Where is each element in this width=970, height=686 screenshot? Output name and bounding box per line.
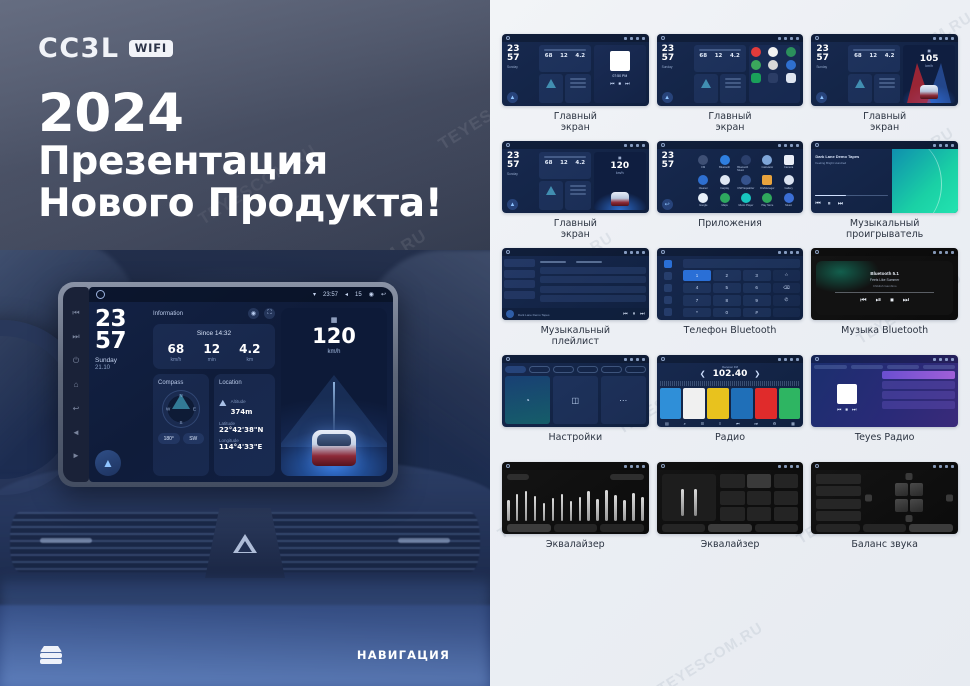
trip-stat-value: 4.2 — [575, 53, 585, 59]
screenshot-radio[interactable]: Receiver FM ❮ 102.40 ❯ — [657, 355, 804, 427]
navigation-icon[interactable]: ▲ — [95, 450, 121, 476]
dial-key[interactable]: # — [743, 308, 771, 318]
clock-minutes: 57 — [507, 161, 536, 170]
screenshot-home-apps[interactable]: 23 57 Sunday ▲ 68124.2 — [657, 34, 804, 106]
hero-footer: НАВИГАЦИЯ — [0, 624, 490, 686]
tab[interactable] — [863, 524, 907, 532]
app-icon[interactable] — [786, 60, 796, 70]
trip-info-card: Since 14:32 68 km/h 12 min — [153, 324, 275, 369]
trip-stat-value: 12 — [869, 53, 877, 59]
app-icon[interactable] — [720, 155, 730, 165]
app-item[interactable]: DSP Equalizer — [737, 175, 754, 190]
thumb-status-bar — [811, 248, 958, 256]
back-icon[interactable]: ↩ — [662, 199, 673, 210]
app-icon[interactable] — [762, 155, 772, 165]
phone-sidebar[interactable] — [657, 256, 680, 320]
gallery-item[interactable]: Dark Lane Demo Tapes ⏮⏸⏭ Музыкальный пле… — [502, 248, 649, 348]
station-list[interactable] — [882, 371, 955, 425]
track-title: Dark Lane Demo Tapes — [518, 313, 549, 317]
app-icon[interactable] — [784, 175, 794, 185]
nav-tab[interactable] — [814, 365, 846, 369]
more-icon[interactable] — [773, 308, 801, 318]
preset-selector[interactable] — [507, 474, 529, 480]
app-item[interactable]: Bluetooth Music — [737, 155, 754, 173]
preset-button[interactable] — [720, 491, 744, 505]
media-controls[interactable]: ⏮⏯⏹⏭ — [860, 297, 909, 305]
band-slider[interactable] — [507, 500, 510, 521]
app-icon[interactable] — [751, 60, 761, 70]
app-shortcuts-panel[interactable] — [749, 45, 801, 103]
frequency-scale[interactable] — [660, 381, 801, 386]
stop-icon[interactable]: ⏹ — [890, 297, 894, 305]
media-controls[interactable]: ⏮⏸⏭ — [623, 311, 645, 317]
seek-down-icon[interactable]: ❮ — [700, 370, 706, 378]
next-icon[interactable]: ⏭ — [640, 311, 645, 317]
trip-stat-value: 4.2 — [885, 53, 895, 59]
dial-pad[interactable]: 1 2 3 ☆ 4 5 6 ⌫ 7 8 9 ✆ — [683, 270, 800, 317]
gallery-item[interactable]: Эквалайзер — [502, 462, 649, 562]
balance-up-button[interactable] — [906, 473, 913, 480]
navigation-icon[interactable]: ▲ — [507, 92, 518, 103]
band-slider[interactable] — [516, 494, 519, 521]
gallery-caption: Музыка Bluetooth — [841, 326, 928, 348]
sidebar-item[interactable] — [504, 259, 535, 267]
dial-key[interactable]: 8 — [713, 295, 741, 306]
track-artist: Feeling Bright Hundred — [815, 161, 888, 165]
next-icon[interactable]: ⏭ — [903, 297, 909, 305]
gallery-item[interactable]: Bluetooth 5.1 Feels Like Summer Childish… — [811, 248, 958, 348]
compass-card — [848, 74, 872, 103]
volume-down-button[interactable]: ◄ — [72, 428, 81, 437]
dial-key[interactable]: 4 — [683, 283, 711, 294]
list-item[interactable] — [540, 295, 645, 302]
now-playing-bar[interactable]: Dark Lane Demo Tapes ⏮⏸⏭ — [502, 308, 649, 320]
dialpad-icon[interactable] — [664, 260, 672, 268]
list-item[interactable] — [882, 401, 955, 409]
app-label: FM — [701, 166, 705, 169]
seat-rear-left[interactable] — [895, 499, 908, 512]
preset-station[interactable] — [683, 388, 705, 419]
band-slider[interactable] — [534, 496, 537, 521]
equalizer-tabs[interactable] — [507, 524, 644, 532]
seat-front-right[interactable] — [910, 483, 923, 496]
preset-buttons[interactable] — [720, 474, 798, 521]
settings-icon[interactable] — [664, 308, 672, 316]
app-icon[interactable] — [784, 193, 794, 203]
treble-slider[interactable] — [694, 489, 697, 516]
screenshot-music-playlist[interactable]: Dark Lane Demo Tapes ⏮⏸⏭ — [502, 248, 649, 320]
app-icon[interactable] — [751, 73, 761, 83]
band-slider[interactable] — [587, 491, 590, 521]
preset-button[interactable] — [747, 491, 771, 505]
settings-tab[interactable] — [601, 366, 622, 373]
band-slider[interactable] — [614, 495, 617, 521]
preset-station[interactable] — [755, 388, 777, 419]
station-presets[interactable] — [660, 388, 801, 419]
gear-icon[interactable]: ◉ — [369, 291, 374, 298]
hazard-triangle-icon[interactable] — [231, 531, 259, 554]
prev-icon[interactable]: ⏮ — [837, 407, 842, 413]
expand-icon[interactable]: ⛶ — [264, 308, 275, 319]
equalizer-tabs[interactable] — [816, 524, 953, 532]
sidebar-item[interactable] — [504, 270, 535, 278]
tab[interactable] — [554, 524, 598, 532]
app-item[interactable]: Google — [695, 193, 712, 208]
grid-icon[interactable]: ▦ — [791, 421, 795, 426]
list-item[interactable] — [540, 267, 645, 274]
navigation-icon[interactable]: ▲ — [662, 92, 673, 103]
equalizer-header[interactable] — [507, 474, 644, 480]
app-item[interactable]: Play Store — [759, 193, 776, 208]
preset-button[interactable] — [774, 491, 798, 505]
dial-key[interactable]: 6 — [743, 283, 771, 294]
trip-stat-value: 68 — [699, 53, 707, 59]
favorites-icon[interactable]: ☆ — [773, 270, 801, 281]
gallery-item[interactable]: ⏮⏹⏭ Teyes Радио — [811, 355, 958, 455]
app-icon[interactable] — [698, 193, 708, 203]
app-icon[interactable] — [768, 73, 778, 83]
preset-station[interactable] — [779, 388, 801, 419]
screenshot-home-media[interactable]: 23 57 Sunday ▲ 68124.2 — [502, 34, 649, 106]
layers-icon — [40, 646, 62, 664]
search-icon[interactable]: ⌕ — [684, 421, 686, 426]
prev-icon[interactable]: ⏮ — [610, 81, 615, 87]
app-icon[interactable] — [786, 73, 796, 83]
refresh-icon[interactable]: ◉ — [248, 308, 259, 319]
screenshot-equalizer[interactable] — [502, 462, 649, 534]
screenshot-equalizer-presets[interactable] — [657, 462, 804, 534]
list-item[interactable] — [540, 286, 645, 293]
lane-warning-panel[interactable]: ▦ 105 km/h — [903, 45, 955, 103]
drive-view-panel[interactable]: ▦ 120 km/h — [281, 308, 387, 476]
app-icon[interactable] — [751, 47, 761, 57]
sidebar-item[interactable] — [504, 280, 535, 288]
app-item[interactable]: Bluetooth — [716, 155, 733, 173]
home-circle-icon — [661, 36, 665, 40]
compass-point-s: S — [179, 420, 182, 425]
list-icon[interactable]: ☰ — [701, 421, 705, 426]
screenshot-settings[interactable]: ◔ ◫ ⋯ — [502, 355, 649, 427]
media-controls[interactable]: ⏮⏸⏭ — [815, 201, 888, 208]
tab[interactable] — [909, 524, 953, 532]
app-icon[interactable] — [720, 175, 730, 185]
preset-button[interactable] — [774, 474, 798, 488]
thumb-status-bar — [502, 34, 649, 42]
vehicle-3d-model — [312, 430, 356, 466]
list-item[interactable] — [540, 276, 645, 283]
band-slider[interactable] — [623, 500, 626, 521]
preset-button[interactable] — [720, 474, 744, 488]
wifi-icon: ▾ — [313, 291, 316, 298]
gallery-caption: Эквалайзер — [701, 540, 760, 562]
navigation-label: НАВИГАЦИЯ — [357, 648, 450, 662]
app-item[interactable]: Cleaner — [695, 175, 712, 190]
bass-slider[interactable] — [681, 489, 684, 516]
app-icon[interactable] — [698, 155, 708, 165]
gallery-item[interactable]: Receiver FM ❮ 102.40 ❯ — [657, 355, 804, 455]
compass-direction: SW — [183, 433, 205, 444]
dial-key[interactable]: 9 — [743, 295, 771, 306]
radio-toolbar[interactable]: ▤⌕☰≡⏮⏭⚙▦ — [660, 419, 801, 427]
preset-station[interactable] — [731, 388, 753, 419]
home-button[interactable]: ⌂ — [72, 380, 81, 389]
dial-key[interactable]: 1 — [683, 270, 711, 281]
band-slider[interactable] — [596, 499, 599, 521]
dial-key[interactable]: 3 — [743, 270, 771, 281]
call-icon[interactable]: ✆ — [773, 295, 801, 306]
app-item[interactable]: FileManager — [759, 175, 776, 190]
band-slider[interactable] — [552, 498, 555, 521]
clock-minutes: 57 — [95, 330, 147, 352]
search-icon[interactable] — [664, 284, 672, 292]
volume-up-button[interactable]: ► — [72, 451, 81, 460]
screenshot-teyes-radio[interactable]: ⏮⏹⏭ — [811, 355, 958, 427]
seat-front-left[interactable] — [895, 483, 908, 496]
balance-presets[interactable] — [816, 474, 861, 521]
contacts-icon[interactable] — [664, 272, 672, 280]
screenshot-home-lane[interactable]: 23 57 Sunday ▲ 68124.2 — [811, 34, 958, 106]
album-art — [506, 310, 514, 318]
preset-button[interactable] — [747, 474, 771, 488]
app-label: Camera — [784, 166, 793, 169]
screenshot-sound-balance[interactable] — [811, 462, 958, 534]
app-item[interactable]: Carplay — [716, 175, 733, 190]
list-item[interactable] — [882, 371, 955, 379]
settings-icon[interactable]: ⚙ — [773, 421, 777, 426]
hero-panel: TEYESCOM.RU TEYESCOM.RU TEYESCOM.RU TEYE… — [0, 0, 490, 686]
app-icon[interactable] — [762, 175, 772, 185]
location-card — [565, 181, 591, 210]
app-item[interactable]: Gallery — [780, 175, 797, 190]
dial-key[interactable]: 2 — [713, 270, 741, 281]
balance-right-button[interactable] — [946, 494, 953, 501]
next-icon[interactable]: ⏭ — [838, 201, 843, 208]
clock-hours: 23 — [95, 308, 147, 330]
home-circle-icon — [661, 250, 665, 254]
gallery-item[interactable]: ◔ ◫ ⋯ Настройки — [502, 355, 649, 455]
preset-button[interactable] — [816, 486, 861, 496]
nav-tab[interactable] — [923, 365, 955, 369]
play-pause-icon[interactable]: ⏯ — [876, 297, 882, 305]
nav-tab[interactable] — [851, 365, 883, 369]
prev-icon[interactable]: ⏮ — [623, 311, 628, 317]
dial-key[interactable]: * — [683, 308, 711, 318]
watermark: TEYESCOM.RU — [435, 66, 490, 155]
settings-tab[interactable] — [505, 366, 526, 373]
bluetooth-version-label: Bluetooth 5.1 — [870, 271, 899, 276]
list-item[interactable] — [882, 381, 955, 389]
hotspot-card[interactable]: ◫ — [553, 376, 598, 424]
app-item[interactable]: Music Player — [737, 193, 754, 208]
band-icon[interactable]: ▤ — [665, 421, 669, 426]
app-icon[interactable] — [784, 155, 794, 165]
head-unit-hardware-buttons[interactable]: ⏮ ⏭ ⏻ ⌂ ↩ ◄ ► — [63, 287, 89, 482]
band-slider[interactable] — [543, 503, 546, 521]
navigation-icon[interactable]: ▲ — [507, 199, 518, 210]
nav-tab[interactable] — [887, 365, 919, 369]
trip-stat-value: 68 — [168, 342, 185, 356]
trip-stat-value: 12 — [560, 53, 568, 59]
speed-value: 120 — [594, 161, 646, 171]
compass-dial: N E S W — [162, 390, 200, 428]
gallery-caption: Главный экран — [554, 112, 597, 134]
pause-icon[interactable]: ⏸ — [633, 311, 636, 317]
app-item[interactable]: Camera — [780, 155, 797, 173]
balance-left-button[interactable] — [865, 494, 872, 501]
app-icon[interactable] — [762, 193, 772, 203]
equalizer-tabs[interactable] — [662, 524, 799, 532]
settings-tab[interactable] — [577, 366, 598, 373]
app-icon[interactable] — [741, 155, 751, 165]
back-icon[interactable]: ↩ — [381, 291, 386, 298]
settings-tab[interactable] — [529, 366, 550, 373]
preset-station[interactable] — [660, 388, 682, 419]
head-unit-screen[interactable]: ▾ 23:57 ◂ 15 ◉ ↩ 23 57 Sunday — [89, 287, 393, 482]
app-item[interactable]: Music — [780, 193, 797, 208]
preset-button[interactable] — [816, 474, 861, 484]
tab[interactable] — [600, 524, 644, 532]
preset-button[interactable] — [774, 507, 798, 521]
screenshot-bluetooth-music[interactable]: Bluetooth 5.1 Feels Like Summer Childish… — [811, 248, 958, 320]
app-icon[interactable] — [741, 193, 751, 203]
dial-key[interactable]: 5 — [713, 283, 741, 294]
gallery-item[interactable]: Эквалайзер — [657, 462, 804, 562]
preset-button[interactable] — [747, 507, 771, 521]
next-icon[interactable]: ⏭ — [754, 421, 758, 426]
screenshot-home-nav[interactable]: 23 57 Sunday ▲ 68124.2 — [502, 141, 649, 213]
wifi-card[interactable]: ◔ — [505, 376, 550, 424]
progress-bar[interactable] — [815, 195, 888, 197]
sidebar-item[interactable] — [504, 291, 535, 299]
gallery-item[interactable]: 1 2 3 ☆ 4 5 6 ⌫ 7 8 9 ✆ — [657, 248, 804, 348]
gallery-caption: Музыкальный проигрыватель — [846, 219, 923, 241]
prev-icon[interactable]: ⏮ — [815, 201, 820, 208]
tab[interactable] — [816, 524, 860, 532]
balance-down-button[interactable] — [906, 515, 913, 522]
seek-up-icon[interactable]: ❯ — [754, 370, 760, 378]
band-slider[interactable] — [570, 501, 573, 521]
progress-bar[interactable] — [835, 292, 933, 293]
back-button[interactable]: ↩ — [72, 404, 81, 413]
thumb-status-bar — [657, 34, 804, 42]
app-icon[interactable] — [741, 175, 751, 185]
band-slider[interactable] — [579, 497, 582, 521]
app-icon[interactable] — [768, 60, 778, 70]
gallery-caption: Главный экран — [708, 112, 751, 134]
prev-icon[interactable]: ⏮ — [860, 297, 866, 305]
settings-tabs[interactable] — [505, 366, 646, 373]
phone-number-input[interactable] — [683, 259, 800, 268]
screenshot-bluetooth-phone[interactable]: 1 2 3 ☆ 4 5 6 ⌫ 7 8 9 ✆ — [657, 248, 804, 320]
list-item[interactable] — [882, 391, 955, 399]
album-art — [837, 384, 857, 404]
home-circle-icon — [815, 464, 819, 468]
dial-key[interactable]: 7 — [683, 295, 711, 306]
gallery-item[interactable]: 23 57 Sunday ▲ 68124.2 — [811, 34, 958, 134]
dial-key[interactable]: 0 — [713, 308, 741, 318]
bass-treble-sliders[interactable] — [662, 474, 717, 521]
gallery-item[interactable]: 23 57 Sunday ▲ 68124.2 — [502, 141, 649, 241]
thumb-status-bar — [657, 462, 804, 470]
band-slider[interactable] — [605, 490, 608, 521]
teyes-nav-tabs[interactable] — [814, 365, 955, 369]
eq-icon[interactable]: ≡ — [719, 421, 721, 426]
seat-rear-right[interactable] — [910, 499, 923, 512]
gallery-item[interactable]: 23 57 Sunday ▲ 68124.2 — [502, 34, 649, 134]
gallery-item[interactable]: Баланс звука — [811, 462, 958, 562]
app-icon[interactable] — [768, 47, 778, 57]
next-track-button[interactable]: ⏭ — [72, 332, 81, 341]
drive-view-panel[interactable]: ▦ 120 km/h — [594, 152, 646, 210]
preset-button[interactable] — [816, 499, 861, 509]
settings-tab[interactable] — [553, 366, 574, 373]
pause-icon[interactable]: ⏸ — [828, 201, 831, 208]
screenshot-applications[interactable]: 23 57 ↩ FM Bluetooth Bluetooth Music Cal… — [657, 141, 804, 213]
prev-icon[interactable]: ⏮ — [736, 421, 740, 426]
preset-station[interactable] — [707, 388, 729, 419]
next-icon[interactable]: ⏭ — [625, 81, 630, 87]
trip-stat-value: 68 — [854, 53, 862, 59]
band-slider[interactable] — [525, 491, 528, 521]
tab[interactable] — [755, 524, 799, 532]
tab[interactable] — [507, 524, 551, 532]
compass-card — [694, 74, 718, 103]
trip-info-card: 68124.2 — [539, 152, 591, 179]
preset-options[interactable] — [610, 474, 644, 480]
screenshot-music-player[interactable]: Dark Lane Demo Tapes Feeling Bright Hund… — [811, 141, 958, 213]
settings-tab[interactable] — [625, 366, 646, 373]
more-card[interactable]: ⋯ — [601, 376, 646, 424]
home-circle-icon[interactable] — [96, 290, 105, 299]
stop-icon[interactable]: ⏹ — [845, 407, 848, 413]
screens-gallery-panel: TEYESCOM.RU TEYESCOM.RU TEYESCOM.RU TEYE… — [490, 0, 970, 686]
media-controls[interactable]: ⏮⏹⏭ — [837, 407, 857, 413]
gallery-item[interactable]: 23 57 ↩ FM Bluetooth Bluetooth Music Cal… — [657, 141, 804, 241]
app-drawer[interactable]: FM Bluetooth Bluetooth Music Calculator … — [694, 152, 801, 210]
app-item[interactable]: FM — [695, 155, 712, 173]
band-slider[interactable] — [641, 497, 644, 521]
seat-balance-pad[interactable] — [865, 474, 953, 521]
media-controls[interactable]: ⏮⏹⏭ — [594, 81, 646, 87]
band-slider[interactable] — [561, 494, 564, 521]
preset-button[interactable] — [720, 507, 744, 521]
band-slider[interactable] — [632, 493, 635, 521]
longitude-value: 114°4'33"E — [219, 443, 270, 451]
call-history-icon[interactable] — [664, 296, 672, 304]
gallery-item[interactable]: Dark Lane Demo Tapes Feeling Bright Hund… — [811, 141, 958, 241]
app-icon[interactable] — [698, 175, 708, 185]
app-item[interactable]: Calculator — [759, 155, 776, 173]
app-icon[interactable] — [786, 47, 796, 57]
power-button[interactable]: ⏻ — [72, 356, 81, 365]
tab[interactable] — [708, 524, 752, 532]
app-icon[interactable] — [720, 193, 730, 203]
media-widget[interactable]: 07:50 PM ⏮⏹⏭ — [594, 45, 646, 103]
app-label: Bluetooth — [719, 166, 730, 169]
gallery-item[interactable]: 23 57 Sunday ▲ 68124.2 — [657, 34, 804, 134]
stop-icon[interactable]: ⏹ — [619, 81, 622, 87]
trip-stat-unit: km — [239, 357, 260, 363]
home-circle-icon — [506, 250, 510, 254]
backspace-icon[interactable]: ⌫ — [773, 283, 801, 294]
tab[interactable] — [662, 524, 706, 532]
navigation-icon[interactable]: ▲ — [816, 92, 827, 103]
preset-button[interactable] — [816, 511, 861, 521]
next-icon[interactable]: ⏭ — [852, 407, 857, 413]
equalizer-band-sliders[interactable] — [507, 483, 644, 524]
app-item[interactable]: Maps — [716, 193, 733, 208]
prev-track-button[interactable]: ⏮ — [72, 308, 81, 317]
